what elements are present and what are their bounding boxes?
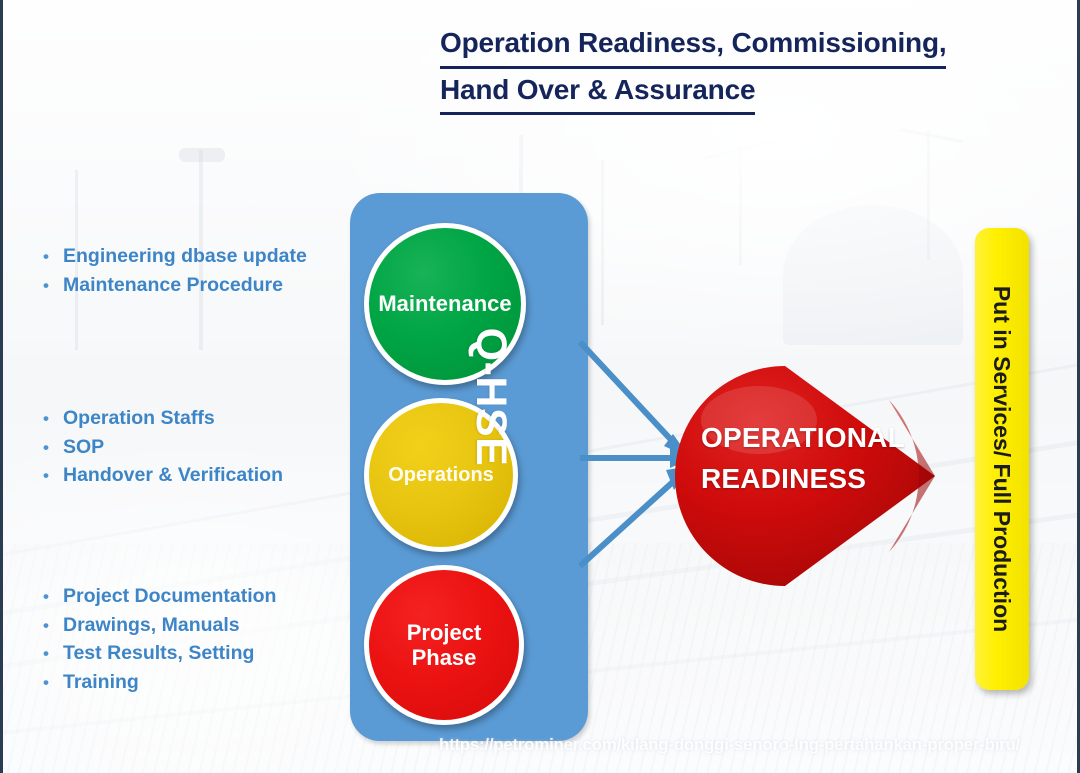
bullet-text: Training xyxy=(63,668,139,697)
slide-canvas: Operation Readiness, Commissioning, Hand… xyxy=(0,0,1080,773)
bullet-dot-icon: • xyxy=(43,410,63,427)
qhse-side-label: Q-HSE xyxy=(465,302,517,492)
list-item: • Operation Staffs xyxy=(43,404,373,433)
bullet-dot-icon: • xyxy=(43,467,63,484)
circle-project-phase: Project Phase xyxy=(364,565,524,725)
put-in-services-banner: Put in Services/ Full Production xyxy=(975,228,1029,690)
bullet-text: Operation Staffs xyxy=(63,404,215,433)
bullet-text: Maintenance Procedure xyxy=(63,271,283,300)
list-item: • Training xyxy=(43,668,373,697)
list-item: • Project Documentation xyxy=(43,582,373,611)
list-item: • Engineering dbase update xyxy=(43,242,373,271)
bullet-dot-icon: • xyxy=(43,439,63,456)
slide-title-line-1: Operation Readiness, Commissioning, xyxy=(440,22,946,69)
bullet-dot-icon: • xyxy=(43,248,63,265)
bullet-text: SOP xyxy=(63,433,104,462)
list-item: • Maintenance Procedure xyxy=(43,271,373,300)
bullet-text: Test Results, Setting xyxy=(63,639,254,668)
list-item: • Handover & Verification xyxy=(43,461,373,490)
list-item: • Test Results, Setting xyxy=(43,639,373,668)
slide-title-line-2: Hand Over & Assurance xyxy=(440,69,755,116)
circle-project-phase-label-line-2: Phase xyxy=(412,645,477,670)
bullet-text: Project Documentation xyxy=(63,582,276,611)
operational-readiness-label: OPERATIONAL READINESS xyxy=(701,418,931,499)
circle-project-phase-label: Project Phase xyxy=(407,620,482,671)
list-item: • Drawings, Manuals xyxy=(43,611,373,640)
bullet-dot-icon: • xyxy=(43,617,63,634)
bullet-dot-icon: • xyxy=(43,674,63,691)
bullet-text: Handover & Verification xyxy=(63,461,283,490)
bullet-group-project-phase-inputs: • Project Documentation • Drawings, Manu… xyxy=(43,582,373,697)
qhse-panel: Maintenance Operations Project Phase Q-H… xyxy=(350,193,588,741)
put-in-services-label: Put in Services/ Full Production xyxy=(978,239,1026,679)
bullet-text: Engineering dbase update xyxy=(63,242,307,271)
operational-readiness-line-1: OPERATIONAL xyxy=(701,418,931,459)
bullet-text: Drawings, Manuals xyxy=(63,611,240,640)
list-item: • SOP xyxy=(43,433,373,462)
operational-readiness-line-2: READINESS xyxy=(701,459,931,500)
bullet-group-maintenance-inputs: • Engineering dbase update • Maintenance… xyxy=(43,242,373,299)
bullet-group-operations-inputs: • Operation Staffs • SOP • Handover & Ve… xyxy=(43,404,373,490)
bullet-dot-icon: • xyxy=(43,645,63,662)
circle-project-phase-label-line-1: Project xyxy=(407,620,482,645)
source-watermark: https://petrominer.com/kilang-donggi-sen… xyxy=(439,735,1020,755)
bullet-dot-icon: • xyxy=(43,277,63,294)
bullet-dot-icon: • xyxy=(43,588,63,605)
slide-title: Operation Readiness, Commissioning, Hand… xyxy=(440,22,1040,115)
